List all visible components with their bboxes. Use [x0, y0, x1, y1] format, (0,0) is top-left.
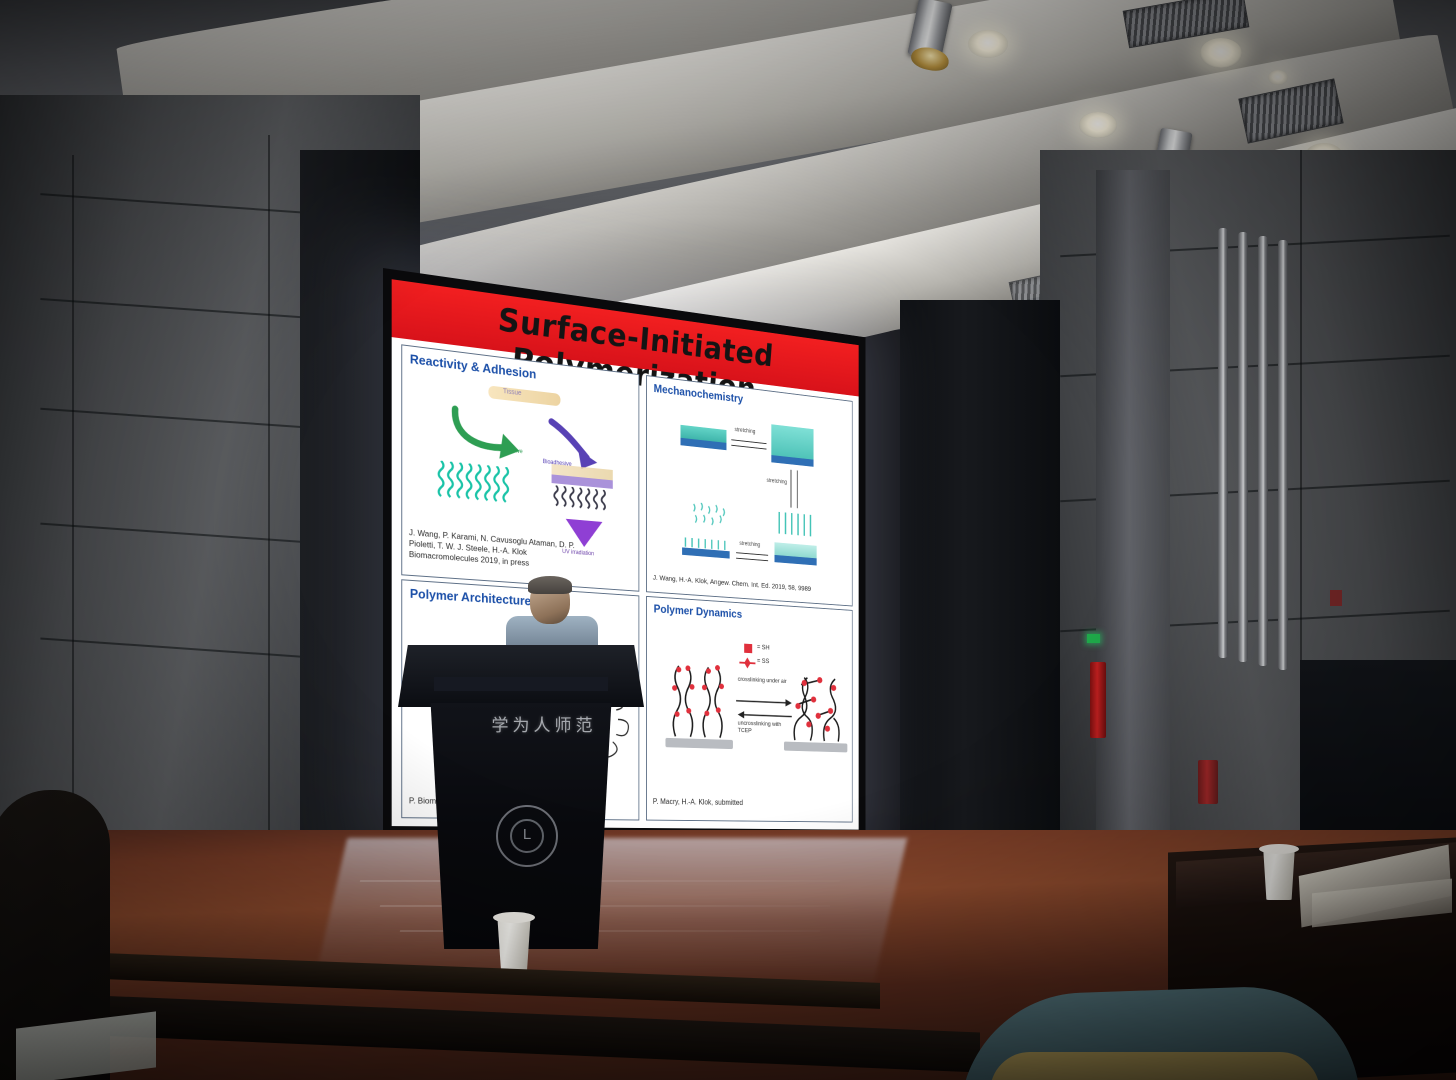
ceiling-spotlight — [905, 0, 965, 80]
lecture-hall-photo: Surface-Initiated Polymerization Reactiv… — [0, 0, 1456, 1080]
stretching-label: stretching — [739, 541, 760, 548]
university-emblem: L — [496, 805, 558, 867]
wall-pipe — [1278, 240, 1288, 670]
podium-calligraphy: 学 为 人 师 范 — [476, 710, 608, 736]
calligraphy-char: 范 — [576, 711, 593, 736]
wall-pipe — [1258, 236, 1268, 666]
polymer-brush-dark — [552, 485, 613, 515]
stretching-label: stretching — [735, 427, 756, 435]
stage-curtain-right — [900, 300, 1060, 860]
citation: J. Wang, H.-A. Klok, Angew. Chem. Int. E… — [653, 573, 844, 596]
calligraphy-char: 为 — [513, 711, 530, 736]
sh-legend-label: = SH — [757, 644, 770, 651]
calligraphy-char: 师 — [555, 711, 572, 736]
presenter-hair — [528, 576, 572, 594]
quadrant-reactivity-adhesion: Reactivity & Adhesion Tissue Photoadhesi… — [401, 344, 639, 591]
substrate — [665, 738, 732, 749]
wall-pipe — [1218, 228, 1228, 658]
podium-shelf — [434, 677, 608, 691]
stretched-block — [771, 424, 813, 459]
podium: 学 为 人 师 范 L — [398, 645, 644, 945]
tissue-band — [488, 385, 560, 406]
stretch-arrows — [736, 550, 770, 564]
citation: J. Wang, P. Karami, N. Cavusoglu Ataman,… — [409, 527, 583, 573]
exit-sign — [1087, 634, 1100, 643]
quadrant-mechanochemistry: Mechanochemistry stretching stretching — [646, 375, 853, 606]
ss-marker — [739, 656, 755, 670]
podium-top — [398, 645, 644, 707]
calligraphy-char: 学 — [492, 711, 509, 736]
stretching-label: stretching — [767, 478, 788, 486]
sh-marker — [744, 644, 752, 654]
quadrant-polymer-dynamics: Polymer Dynamics = SH = SS crosslinking … — [646, 596, 853, 823]
fire-extinguisher — [1198, 760, 1218, 804]
citation: P. Macry, H.-A. Klok, submitted — [653, 797, 830, 809]
stretch-arrows — [731, 436, 768, 453]
ceiling-downlight — [1268, 70, 1288, 85]
ceiling-downlight — [1200, 38, 1242, 68]
wall-marker — [1330, 590, 1342, 606]
paper-cup-table — [1258, 843, 1300, 901]
polymer-brush-teal — [436, 460, 515, 505]
polymer-chains — [776, 512, 817, 539]
crosslinking-label: crosslinking under air — [738, 676, 787, 686]
quadrant-heading: Mechanochemistry — [654, 382, 743, 406]
paper-cup-stage — [492, 910, 536, 972]
fire-extinguisher — [1090, 662, 1106, 738]
free-thiol-chains — [667, 654, 730, 742]
crosslinked-chains — [786, 659, 846, 746]
quadrant-heading: Polymer Dynamics — [654, 602, 742, 621]
ceiling-downlight — [968, 30, 1008, 58]
substrate — [784, 742, 847, 753]
ss-legend-label: = SS — [757, 658, 769, 665]
wall-pillar — [1096, 170, 1170, 870]
vertical-stretch-arrows — [787, 469, 803, 510]
calligraphy-char: 人 — [534, 711, 551, 736]
front-seat-base — [990, 1052, 1320, 1080]
photoadhesive-arrow — [448, 402, 557, 464]
wall-pipe — [1238, 232, 1248, 662]
detached-chains — [690, 502, 733, 530]
uncrosslinking-label: uncrosslinking with TCEP — [738, 720, 789, 737]
ceiling-downlight — [1079, 112, 1117, 138]
emblem-letter: L — [510, 819, 544, 853]
